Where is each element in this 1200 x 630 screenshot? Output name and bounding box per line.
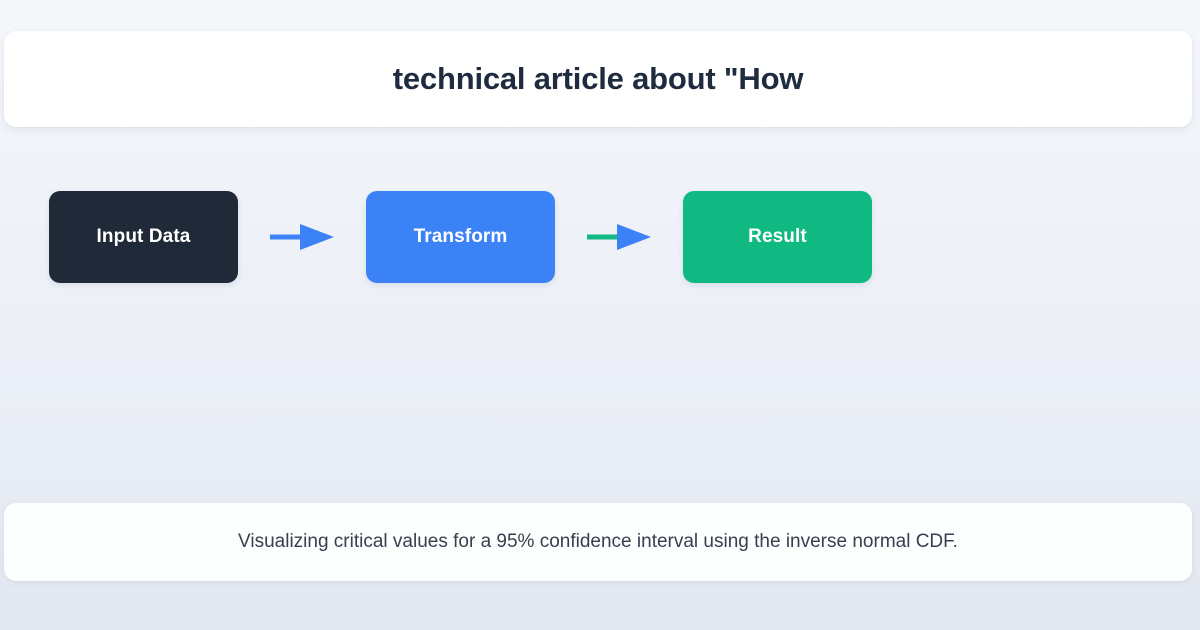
caption-card: Visualizing critical values for a 95% co… [4,503,1192,581]
flow-node-transform-label: Transform [414,226,508,248]
caption-text: Visualizing critical values for a 95% co… [238,529,958,555]
flow-node-input-label: Input Data [97,226,191,248]
poster-canvas: technical article about "How Input Data … [0,0,1200,630]
flow-node-result: Result [683,191,872,283]
arrow-transform-result-icon [555,214,683,260]
header-card: technical article about "How [4,31,1192,127]
page-title: technical article about "How [393,60,803,97]
flow-node-transform: Transform [366,191,555,283]
arrow-input-transform-icon [238,214,366,260]
flow-node-result-label: Result [748,226,807,248]
flow-node-input: Input Data [49,191,238,283]
flow-diagram: Input Data Transform Result [49,191,872,283]
